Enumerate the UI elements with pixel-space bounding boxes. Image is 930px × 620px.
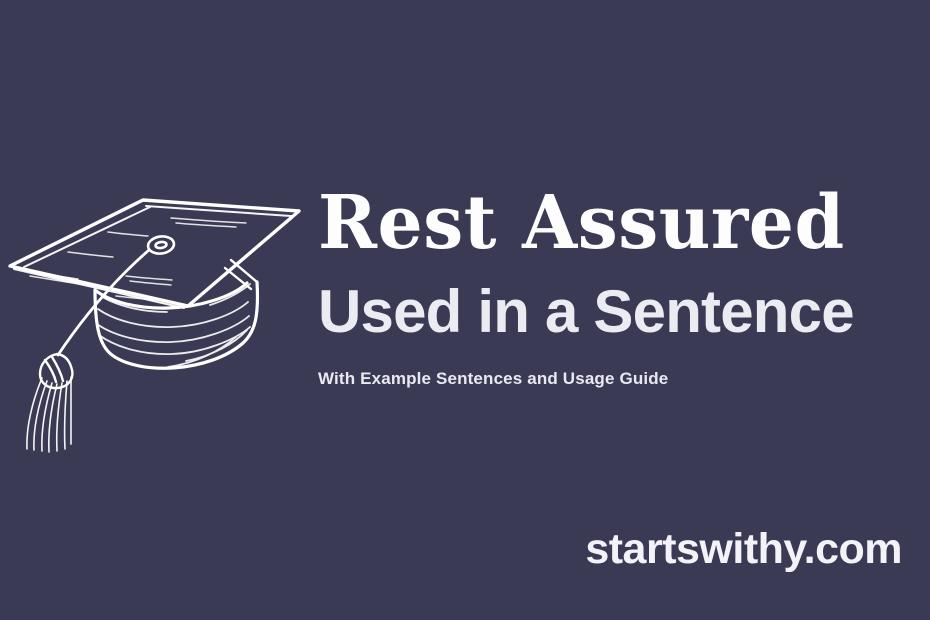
cap-right-corner [225,260,257,289]
graduation-cap-illustration [0,178,300,453]
page-title-serif: Rest Assured [318,186,894,260]
mortarboard-hatching [25,218,246,300]
headline-block: Rest Assured Used in a Sentence With Exa… [318,186,918,387]
mortarboard-top-inner-edge [14,206,292,308]
page-title-sans: Used in a Sentence [318,282,918,342]
tassel-button-icon [147,235,175,255]
tassel-strands [27,377,71,452]
brand-website: startswithy.com [585,528,902,571]
tagline-text: With Example Sentences and Usage Guide [318,370,918,387]
promo-card: Rest Assured Used in a Sentence With Exa… [0,0,930,620]
